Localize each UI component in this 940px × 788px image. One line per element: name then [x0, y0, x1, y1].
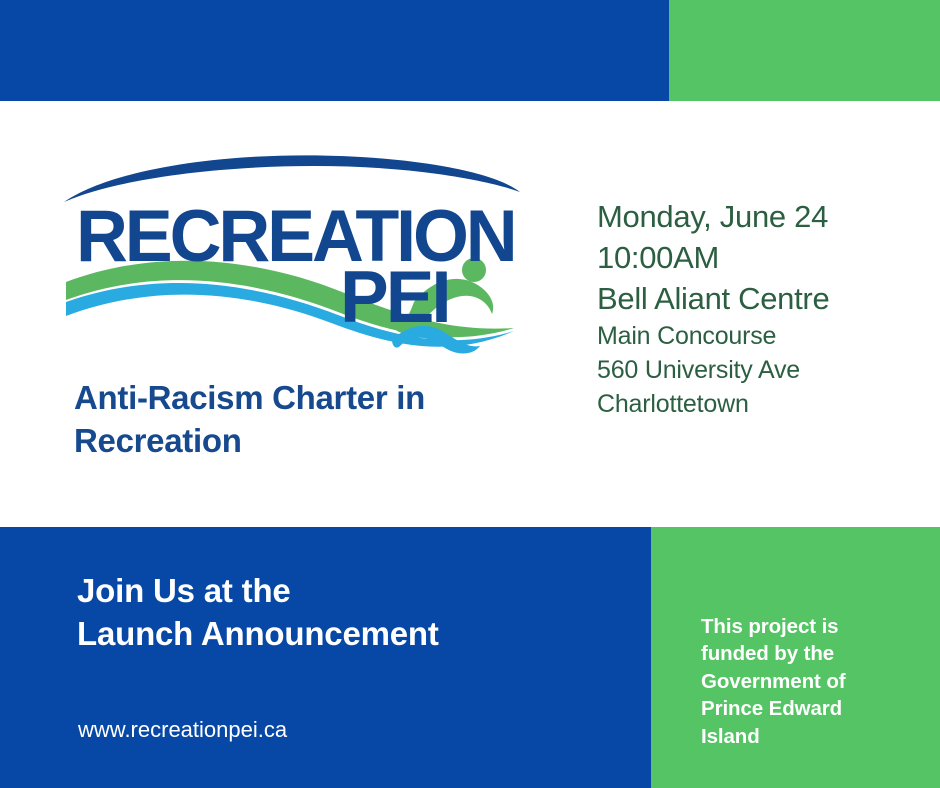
event-venue: Bell Aliant Centre — [597, 278, 927, 319]
funding-note-line-5: Island — [701, 723, 906, 750]
call-to-action: Join Us at the Launch Announcement — [77, 570, 617, 656]
bottom-blue-panel — [0, 527, 651, 788]
event-time: 10:00AM — [597, 237, 927, 278]
website-url[interactable]: www.recreationpei.ca — [78, 717, 287, 743]
funding-note-line-1: This project is — [701, 613, 906, 640]
poster-canvas: RECREATION PEI Anti-Racism Charter in Re… — [0, 0, 940, 788]
cta-line-1: Join Us at the — [77, 570, 617, 613]
headline-line-1: Anti-Racism Charter in — [74, 377, 574, 420]
event-street-address: 560 University Ave — [597, 353, 927, 387]
cta-line-2: Launch Announcement — [77, 613, 617, 656]
top-green-band — [669, 0, 940, 101]
page-title: Anti-Racism Charter in Recreation — [74, 377, 574, 463]
funding-note-line-4: Prince Edward — [701, 695, 906, 722]
recreation-pei-logo: RECREATION PEI — [62, 152, 522, 360]
event-details: Monday, June 24 10:00AM Bell Aliant Cent… — [597, 196, 927, 421]
logo-pei-text: PEI — [340, 260, 449, 336]
logo-arc-shape — [64, 155, 520, 202]
event-venue-area: Main Concourse — [597, 319, 927, 353]
event-date: Monday, June 24 — [597, 196, 927, 237]
top-blue-band — [0, 0, 669, 101]
funding-note-line-2: funded by the — [701, 640, 906, 667]
funding-note: This project is funded by the Government… — [701, 613, 906, 750]
headline-line-2: Recreation — [74, 420, 574, 463]
event-city: Charlottetown — [597, 387, 927, 421]
funding-note-line-3: Government of — [701, 668, 906, 695]
